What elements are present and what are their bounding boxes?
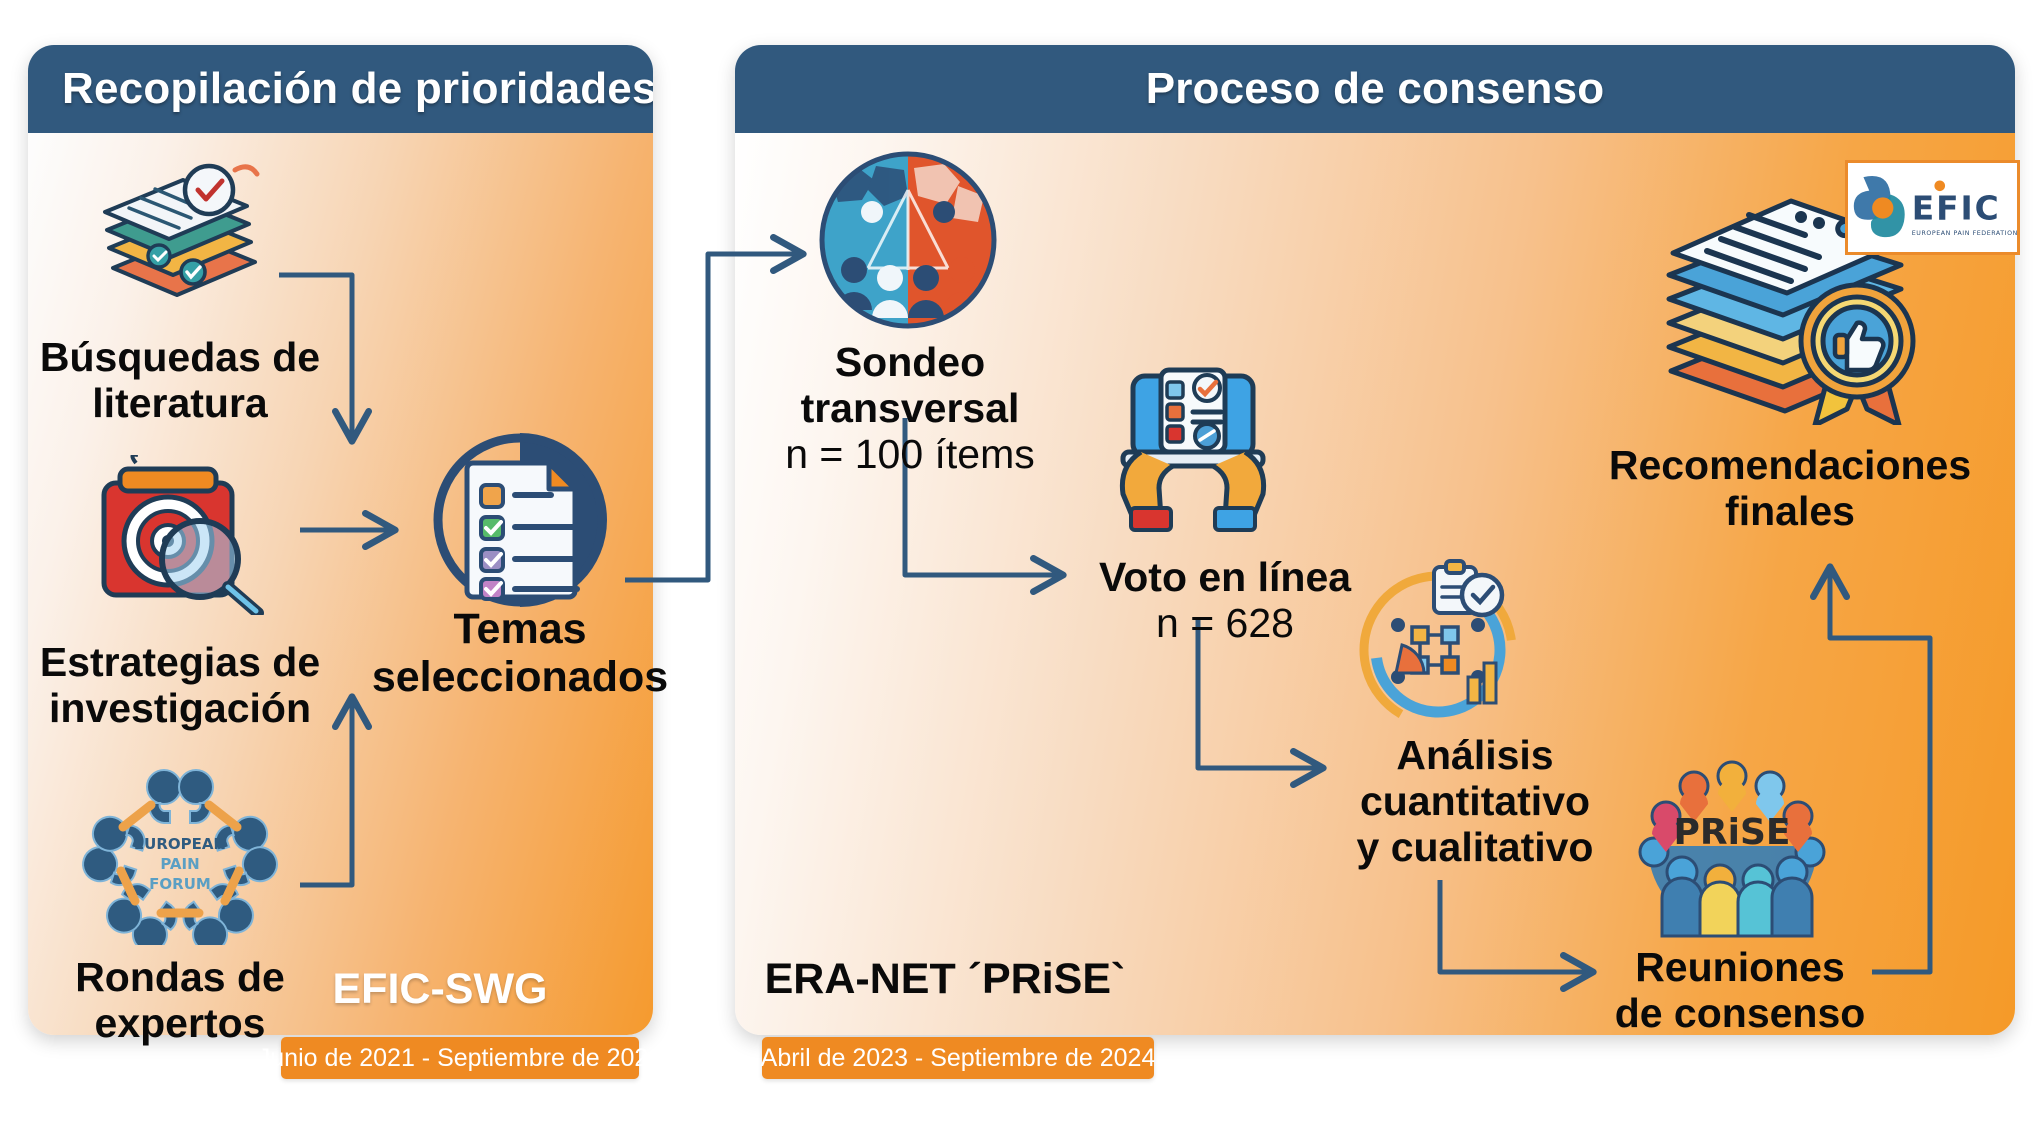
label-recommendations: Recomendaciones finales (1590, 443, 1990, 535)
label-online-vote: Voto en línea n = 628 (1060, 555, 1390, 647)
label-survey-line1: Sondeo (760, 340, 1060, 386)
label-recommendations-line2: finales (1590, 489, 1990, 535)
label-topics-line2: seleccionados (350, 653, 690, 701)
label-topics-line1: Temas (350, 605, 690, 653)
label-experts-line1: Rondas de (30, 955, 330, 1001)
label-research-line1: Estrategias de (20, 640, 340, 686)
chip-period-collection-text: Junio de 2021 - Septiembre de 2022 (258, 1044, 662, 1073)
european-pain-forum-logo: EUROPEAN PAIN FORUM (75, 765, 285, 945)
label-efic-swg: EFIC-SWG (290, 965, 590, 1013)
label-analysis-line2: cuantitativo (1315, 779, 1635, 825)
panel-collection-header: Recopilación de prioridades (28, 45, 653, 133)
label-analysis-line3: y cualitativo (1315, 825, 1635, 871)
forum-logo-line1: EUROPEAN (134, 835, 226, 853)
stacked-documents-icon (85, 150, 275, 300)
prise-logo-text: PRiSE (1674, 812, 1791, 853)
label-analysis: Análisis cuantitativo y cualitativo (1315, 733, 1635, 871)
label-survey-line2: transversal (760, 386, 1060, 432)
label-era-net: ERA-NET ´PRiSE` (730, 955, 1160, 1003)
label-recommendations-line1: Recomendaciones (1590, 443, 1990, 489)
efic-logo-word: EFIC (1912, 190, 2001, 228)
label-meetings-line1: Reuniones (1580, 945, 1900, 991)
panel-consensus-header: Proceso de consenso (735, 45, 2015, 133)
chip-period-collection: Junio de 2021 - Septiembre de 2022 (281, 1037, 639, 1079)
era-net-text: ERA-NET ´PRiSE` (730, 955, 1160, 1003)
label-experts: Rondas de expertos (30, 955, 330, 1047)
label-survey: Sondeo transversal n = 100 ítems (760, 340, 1060, 478)
target-magnifier-icon (82, 455, 272, 615)
forum-logo-line2: PAIN (160, 855, 199, 873)
label-research-line2: investigación (20, 686, 340, 732)
efic-logo-tagline: EUROPEAN PAIN FEDERATION (1912, 230, 2017, 237)
chip-period-consensus-text: Abril de 2023 - Septiembre de 2024 (761, 1044, 1156, 1073)
label-survey-sub: n = 100 ítems (760, 432, 1060, 478)
label-literature-line1: Búsquedas de (20, 335, 340, 381)
efic-swg-text: EFIC-SWG (333, 965, 548, 1013)
label-meetings: Reuniones de consenso (1580, 945, 1900, 1037)
label-research: Estrategias de investigación (20, 640, 340, 732)
label-analysis-line1: Análisis (1315, 733, 1635, 779)
label-topics: Temas seleccionados (350, 605, 690, 701)
label-online-vote-line1: Voto en línea (1060, 555, 1390, 601)
forum-logo-line3: FORUM (149, 875, 211, 893)
panel-consensus-title: Proceso de consenso (1146, 64, 1605, 114)
global-survey-icon (818, 150, 998, 330)
label-online-vote-sub: n = 628 (1060, 601, 1390, 647)
label-literature-line2: literatura (20, 381, 340, 427)
chip-period-consensus: Abril de 2023 - Septiembre de 2024 (762, 1037, 1154, 1079)
panel-collection-title: Recopilación de prioridades (62, 64, 653, 114)
prise-people-logo: PRiSE (1630, 760, 1835, 940)
checklist-circle-icon (425, 425, 615, 615)
label-literature: Búsquedas de literatura (20, 335, 340, 427)
label-meetings-line2: de consenso (1580, 991, 1900, 1037)
online-voting-icon (1105, 360, 1280, 535)
efic-logo: EFIC EUROPEAN PAIN FEDERATION (1845, 160, 2020, 255)
flow-diagram: Recopilación de prioridades Proceso de c… (0, 0, 2040, 1131)
